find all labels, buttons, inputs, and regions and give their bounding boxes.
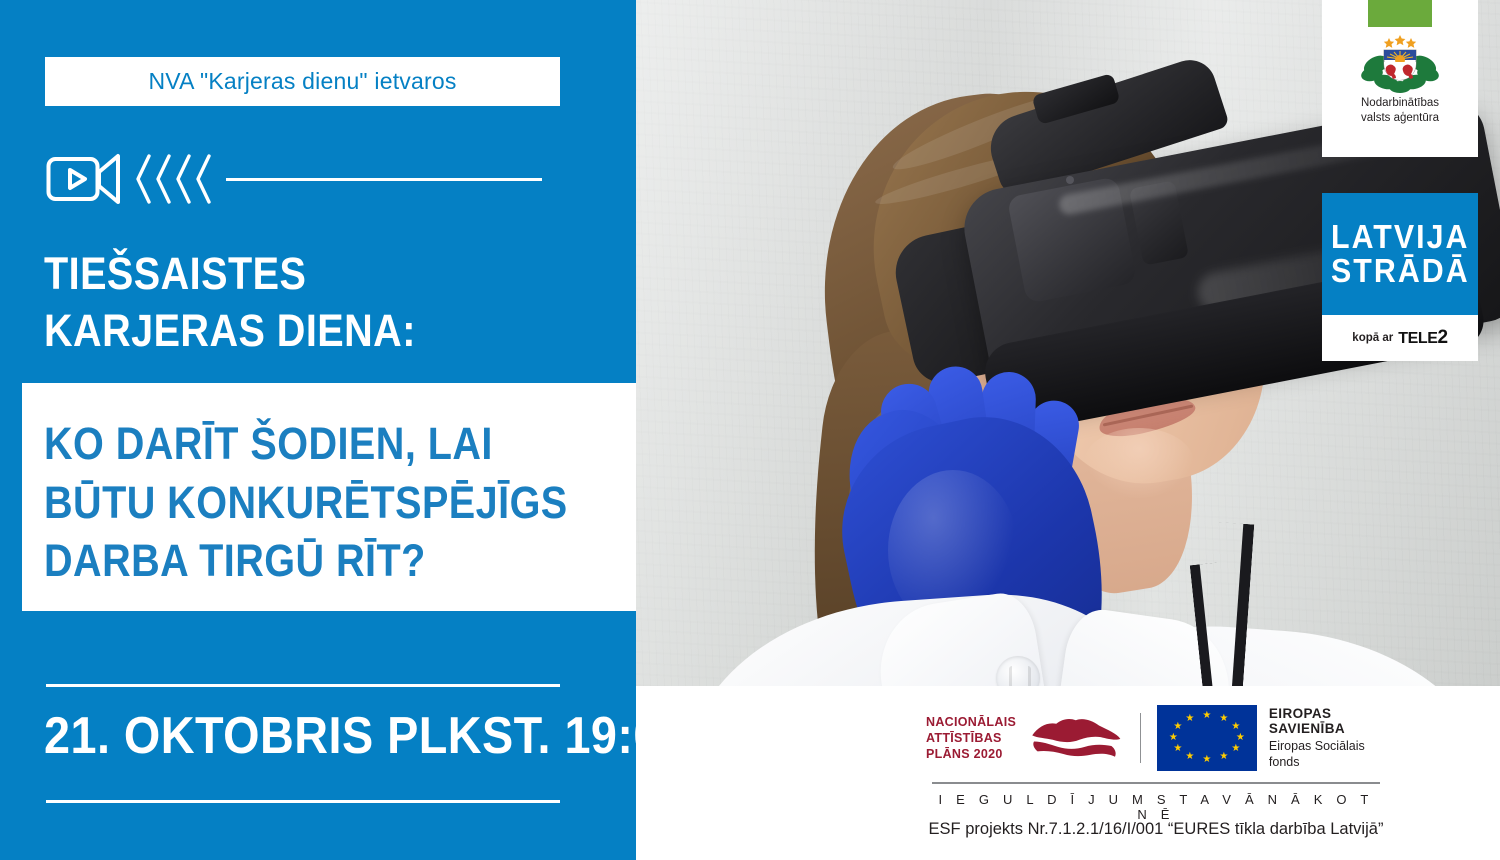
chevron-left-icon [194,152,214,206]
video-camera-icon [46,152,128,206]
latvija-strada-line-1: LATVIJA [1331,220,1469,254]
chevron-left-icon [154,152,174,206]
footer: NACIONĀLAIS ATTĪSTĪBAS PLĀNS 2020 ★ ★ ★ … [636,686,1500,860]
page-subtitle: KO DARĪT ŠODIEN, LAI BŪTU KONKURĒTSPĒJĪG… [44,415,590,591]
footer-rule [932,782,1380,784]
european-union-flag-icon: ★ ★ ★ ★ ★ ★ ★ ★ ★ ★ ★ ★ [1157,705,1257,771]
latvian-coat-of-arms-icon [1360,32,1440,94]
footer-logo-row: NACIONĀLAIS ATTĪSTĪBAS PLĀNS 2020 ★ ★ ★ … [926,706,1396,770]
nap-line-1: NACIONĀLAIS [926,714,1016,730]
subheadline-line-1: KO DARĪT ŠODIEN, LAI [44,415,590,474]
date-rule-top [46,684,560,687]
chevron-left-icon [174,152,194,206]
project-reference: ESF projekts Nr.7.1.2.1/16/I/001 “EURES … [796,820,1500,839]
nap-logo-text: NACIONĀLAIS ATTĪSTĪBAS PLĀNS 2020 [926,714,1016,762]
tele2-logo: TELE2 [1398,327,1447,349]
decorative-icon-row [46,148,561,210]
eu-subtitle-line-1: Eiropas Sociālais [1269,739,1396,755]
headline-line-2: KARJERAS DIENA: [44,303,546,360]
chevron-left-icon [134,152,154,206]
latvia-map-icon [1026,709,1124,767]
tele2-numeral: 2 [1438,327,1448,348]
subheadline-line-3: DARBA TIRGŪ RĪT? [44,532,590,591]
event-context-badge: NVA "Karjeras dienu" ietvaros [45,57,560,106]
chevron-left-group [134,152,214,206]
partner-row: kopā ar TELE2 [1322,315,1478,361]
nva-logo-line-1: Nodarbinātības [1322,96,1478,111]
green-accent-block [1368,0,1432,27]
nva-logo-text: Nodarbinātības valsts aģentūra [1322,96,1478,126]
subheadline-line-2: BŪTU KONKURĒTSPĒJĪGS [44,474,590,533]
vr-headset-sensor [1066,176,1074,184]
poster-root: NVA "Karjeras dienu" ietvaros TIEŠSAISTE… [0,0,1500,860]
event-context-badge-label: NVA "Karjeras dienu" ietvaros [148,68,456,95]
nva-logo-line-2: valsts aģentūra [1322,111,1478,126]
tele2-wordmark: TELE [1398,330,1437,347]
partner-prefix-label: kopā ar [1352,332,1393,344]
event-datetime: 21. OKTOBRIS PLKST. 19:00 [44,706,566,766]
footer-divider [1140,713,1141,763]
eu-subtitle: Eiropas Sociālais fonds [1269,739,1396,771]
chin [1084,428,1194,498]
nap-line-2: ATTĪSTĪBAS [926,730,1016,746]
horizontal-rule [226,178,542,181]
eu-subtitle-line-2: fonds [1269,755,1396,771]
eu-title: EIROPAS SAVIENĪBA [1269,706,1396,736]
eu-logo-text: EIROPAS SAVIENĪBA Eiropas Sociālais fond… [1269,706,1396,771]
latvija-strada-line-2: STRĀDĀ [1331,254,1470,288]
headline-line-1: TIEŠSAISTES [44,246,546,303]
page-title: TIEŠSAISTES KARJERAS DIENA: [44,246,546,359]
left-panel-accent-strip [0,383,22,611]
nap-line-3: PLĀNS 2020 [926,746,1016,762]
latvija-strada-logo-panel: LATVIJA STRĀDĀ kopā ar TELE2 [1322,193,1478,361]
latvija-strada-block: LATVIJA STRĀDĀ [1322,193,1478,315]
investment-slogan: I E G U L D Ī J U M S T A V Ā N Ā K O T … [932,792,1380,822]
date-rule-bottom [46,800,560,803]
nva-logo-panel: Nodarbinātības valsts aģentūra [1322,0,1478,157]
